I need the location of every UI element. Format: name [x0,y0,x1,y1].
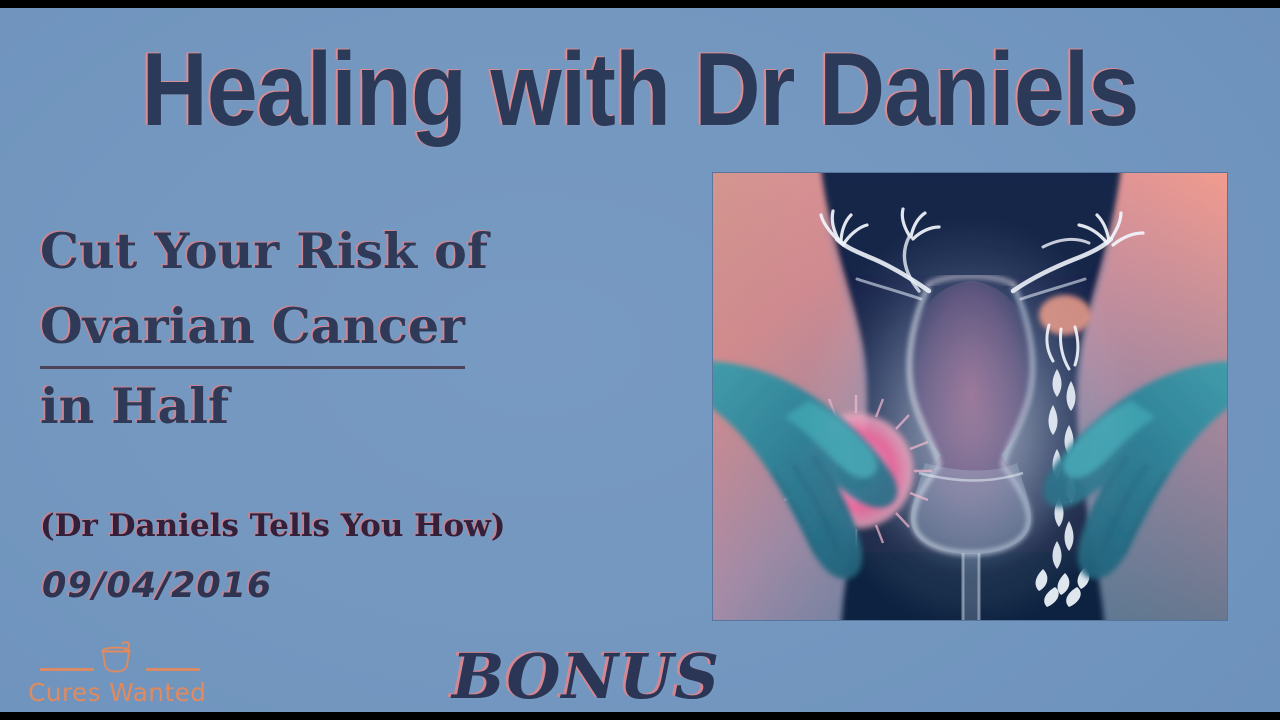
subtitle-line-3-text: in Half [40,377,229,435]
subtitle-line-3: in Half [40,369,680,444]
subtitle-line-1-text: Cut Your Risk of [40,222,488,280]
logo-mark [26,644,201,678]
mortar-and-pestle-icon [88,640,144,676]
cures-wanted-logo: Cures Wanted [22,644,217,706]
subtitle-block: Cut Your Risk of Ovarian Cancer in Half [40,214,680,444]
subtitle-line-1: Cut Your Risk of [40,214,680,289]
illustration-artwork [713,173,1227,620]
page-title: Healing with Dr Daniels [77,38,1203,142]
letterbox-bar-top [0,0,1280,8]
logo-rule-left [40,668,94,671]
subtitle-parenthetical: (Dr Daniels Tells You How) [40,508,506,544]
logo-text: Cures Wanted [28,680,217,705]
presentation-slide: Healing with Dr Daniels Cut Your Risk of… [0,8,1280,712]
logo-rule-right [146,668,200,671]
subtitle-line-2-text: Ovarian Cancer [40,289,465,369]
video-frame: Healing with Dr Daniels Cut Your Risk of… [0,0,1280,720]
reproductive-system-illustration [713,173,1227,620]
bonus-badge: BONUS [452,640,720,712]
subtitle-line-2: Ovarian Cancer [40,289,680,369]
letterbox-bar-bottom [0,712,1280,720]
episode-date: 09/04/2016 [42,566,272,606]
